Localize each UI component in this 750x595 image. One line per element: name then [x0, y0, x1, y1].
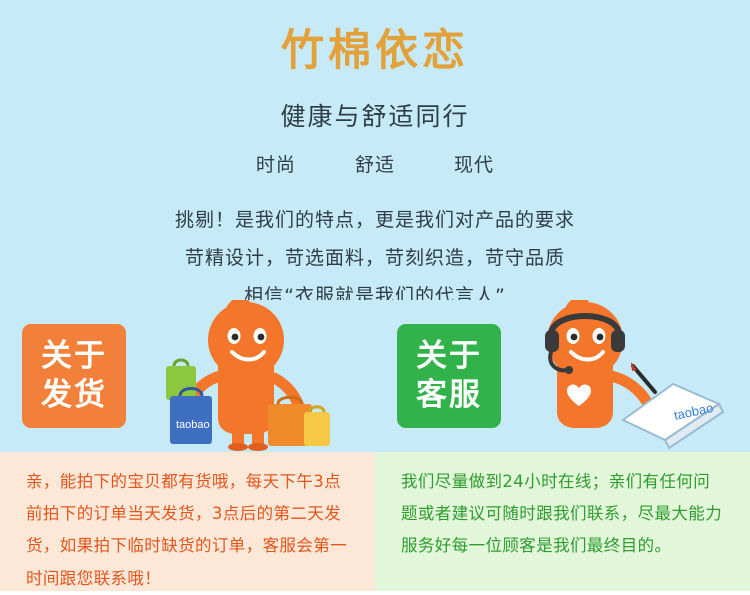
service-badge-line-2: 客服 [416, 376, 482, 415]
slogan-block: 挑剔！是我们的特点，更是我们对产品的要求 苛精设计，苛选面料，苛刻织造，苛守品质… [0, 201, 750, 315]
top-banner: 竹棉依恋 健康与舒适同行 时尚 舒适 现代 挑剔！是我们的特点，更是我们对产品的… [0, 0, 750, 300]
keyword-3: 现代 [454, 150, 494, 177]
brand-title: 竹棉依恋 [0, 0, 750, 75]
shipping-badge-line-2: 发货 [41, 376, 107, 415]
slogan-line-1: 挑剔！是我们的特点，更是我们对产品的要求 [0, 201, 750, 239]
service-note: 我们尽量做到24小时在线；亲们有任何问题或者建议可随时跟我们联系，尽最大能力服务… [375, 452, 750, 591]
shipping-badge-line-1: 关于 [41, 337, 107, 376]
customer-service-mascot-icon: taobao [505, 300, 735, 452]
service-column: 关于 客服 [375, 300, 750, 591]
shipping-column: 关于 发货 [0, 300, 375, 591]
service-badge: 关于 客服 [397, 324, 501, 428]
slogan-line-2: 苛精设计，苛选面料，苛刻织造，苛守品质 [0, 239, 750, 277]
brand-subtitle: 健康与舒适同行 [0, 97, 750, 133]
shopping-mascot-icon: taobao [140, 300, 355, 452]
shipping-illustration-area: 关于 发货 [0, 300, 375, 452]
keyword-1: 时尚 [256, 150, 296, 177]
shipping-badge: 关于 发货 [22, 324, 126, 428]
info-columns: 关于 发货 [0, 300, 750, 591]
keyword-row: 时尚 舒适 现代 [0, 150, 750, 177]
service-illustration-area: 关于 客服 [375, 300, 750, 452]
promo-page: 竹棉依恋 健康与舒适同行 时尚 舒适 现代 挑剔！是我们的特点，更是我们对产品的… [0, 0, 750, 591]
keyword-2: 舒适 [355, 150, 395, 177]
svg-text:taobao: taobao [176, 419, 210, 431]
service-badge-line-1: 关于 [416, 337, 482, 376]
shipping-note: 亲，能拍下的宝贝都有货哦，每天下午3点前拍下的订单当天发货，3点后的第二天发货，… [0, 452, 375, 591]
